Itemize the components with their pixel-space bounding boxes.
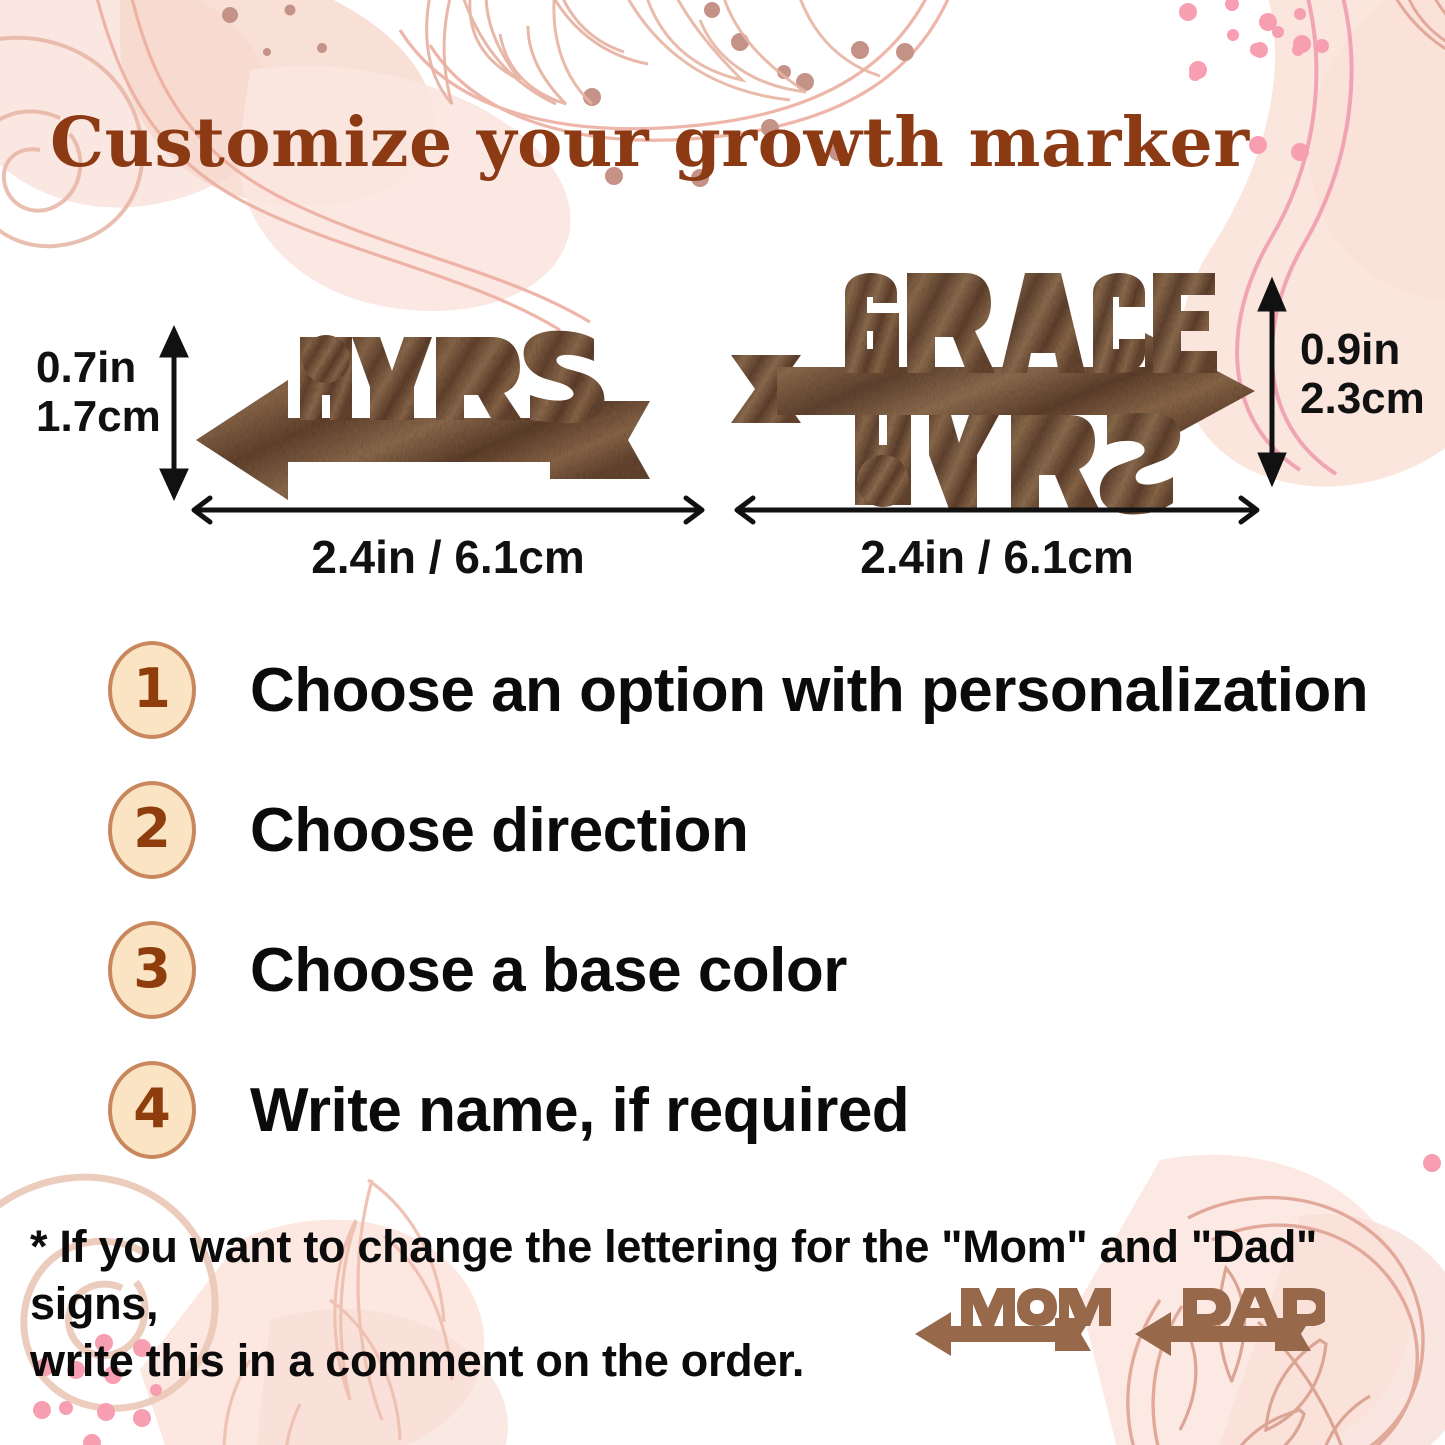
step-label: Choose an option with personalization	[250, 655, 1368, 726]
left-height-label: 0.7in 1.7cm	[36, 343, 161, 442]
right-height-label: 0.9in 2.3cm	[1300, 325, 1425, 424]
width-dimension-line-right	[737, 498, 1257, 522]
left-width-label: 2.4in / 6.1cm	[196, 530, 700, 584]
step-number-badge: 2	[108, 781, 196, 879]
height-dimension-line-right	[1261, 283, 1283, 481]
steps-list: 1 Choose an option with personalization …	[0, 620, 1445, 1180]
step-number: 2	[133, 802, 171, 856]
right-width-label: 2.4in / 6.1cm	[739, 530, 1255, 584]
step-item: 3 Choose a base color	[0, 900, 1445, 1040]
step-number-badge: 3	[108, 921, 196, 1019]
step-item: 4 Write name, if required	[0, 1040, 1445, 1180]
step-number-badge: 1	[108, 641, 196, 739]
step-label: Choose a base color	[250, 935, 847, 1006]
left-height-inch: 0.7in	[36, 343, 136, 392]
step-label: Write name, if required	[250, 1075, 909, 1146]
page-title: Customize your growth marker	[50, 108, 1410, 179]
step-number: 1	[133, 662, 171, 716]
right-height-inch: 0.9in	[1300, 325, 1400, 374]
step-item: 1 Choose an option with personalization	[0, 620, 1445, 760]
step-number: 4	[133, 1082, 171, 1136]
step-number: 3	[133, 942, 171, 996]
right-height-cm: 2.3cm	[1300, 374, 1425, 423]
left-height-cm: 1.7cm	[36, 392, 161, 441]
mom-dad-sample-arrows	[905, 1272, 1325, 1362]
width-dimension-line-left	[194, 498, 702, 522]
height-dimension-line-left	[163, 331, 185, 495]
dad-arrow-icon	[1135, 1288, 1325, 1356]
step-item: 2 Choose direction	[0, 760, 1445, 900]
product-dimension-diagram: 0.7in 1.7cm 2.4in / 6.1cm	[0, 255, 1445, 585]
mom-arrow-icon	[915, 1288, 1111, 1356]
promo-graphic: Customize your growth marker	[0, 0, 1445, 1445]
step-number-badge: 4	[108, 1061, 196, 1159]
step-label: Choose direction	[250, 795, 748, 866]
